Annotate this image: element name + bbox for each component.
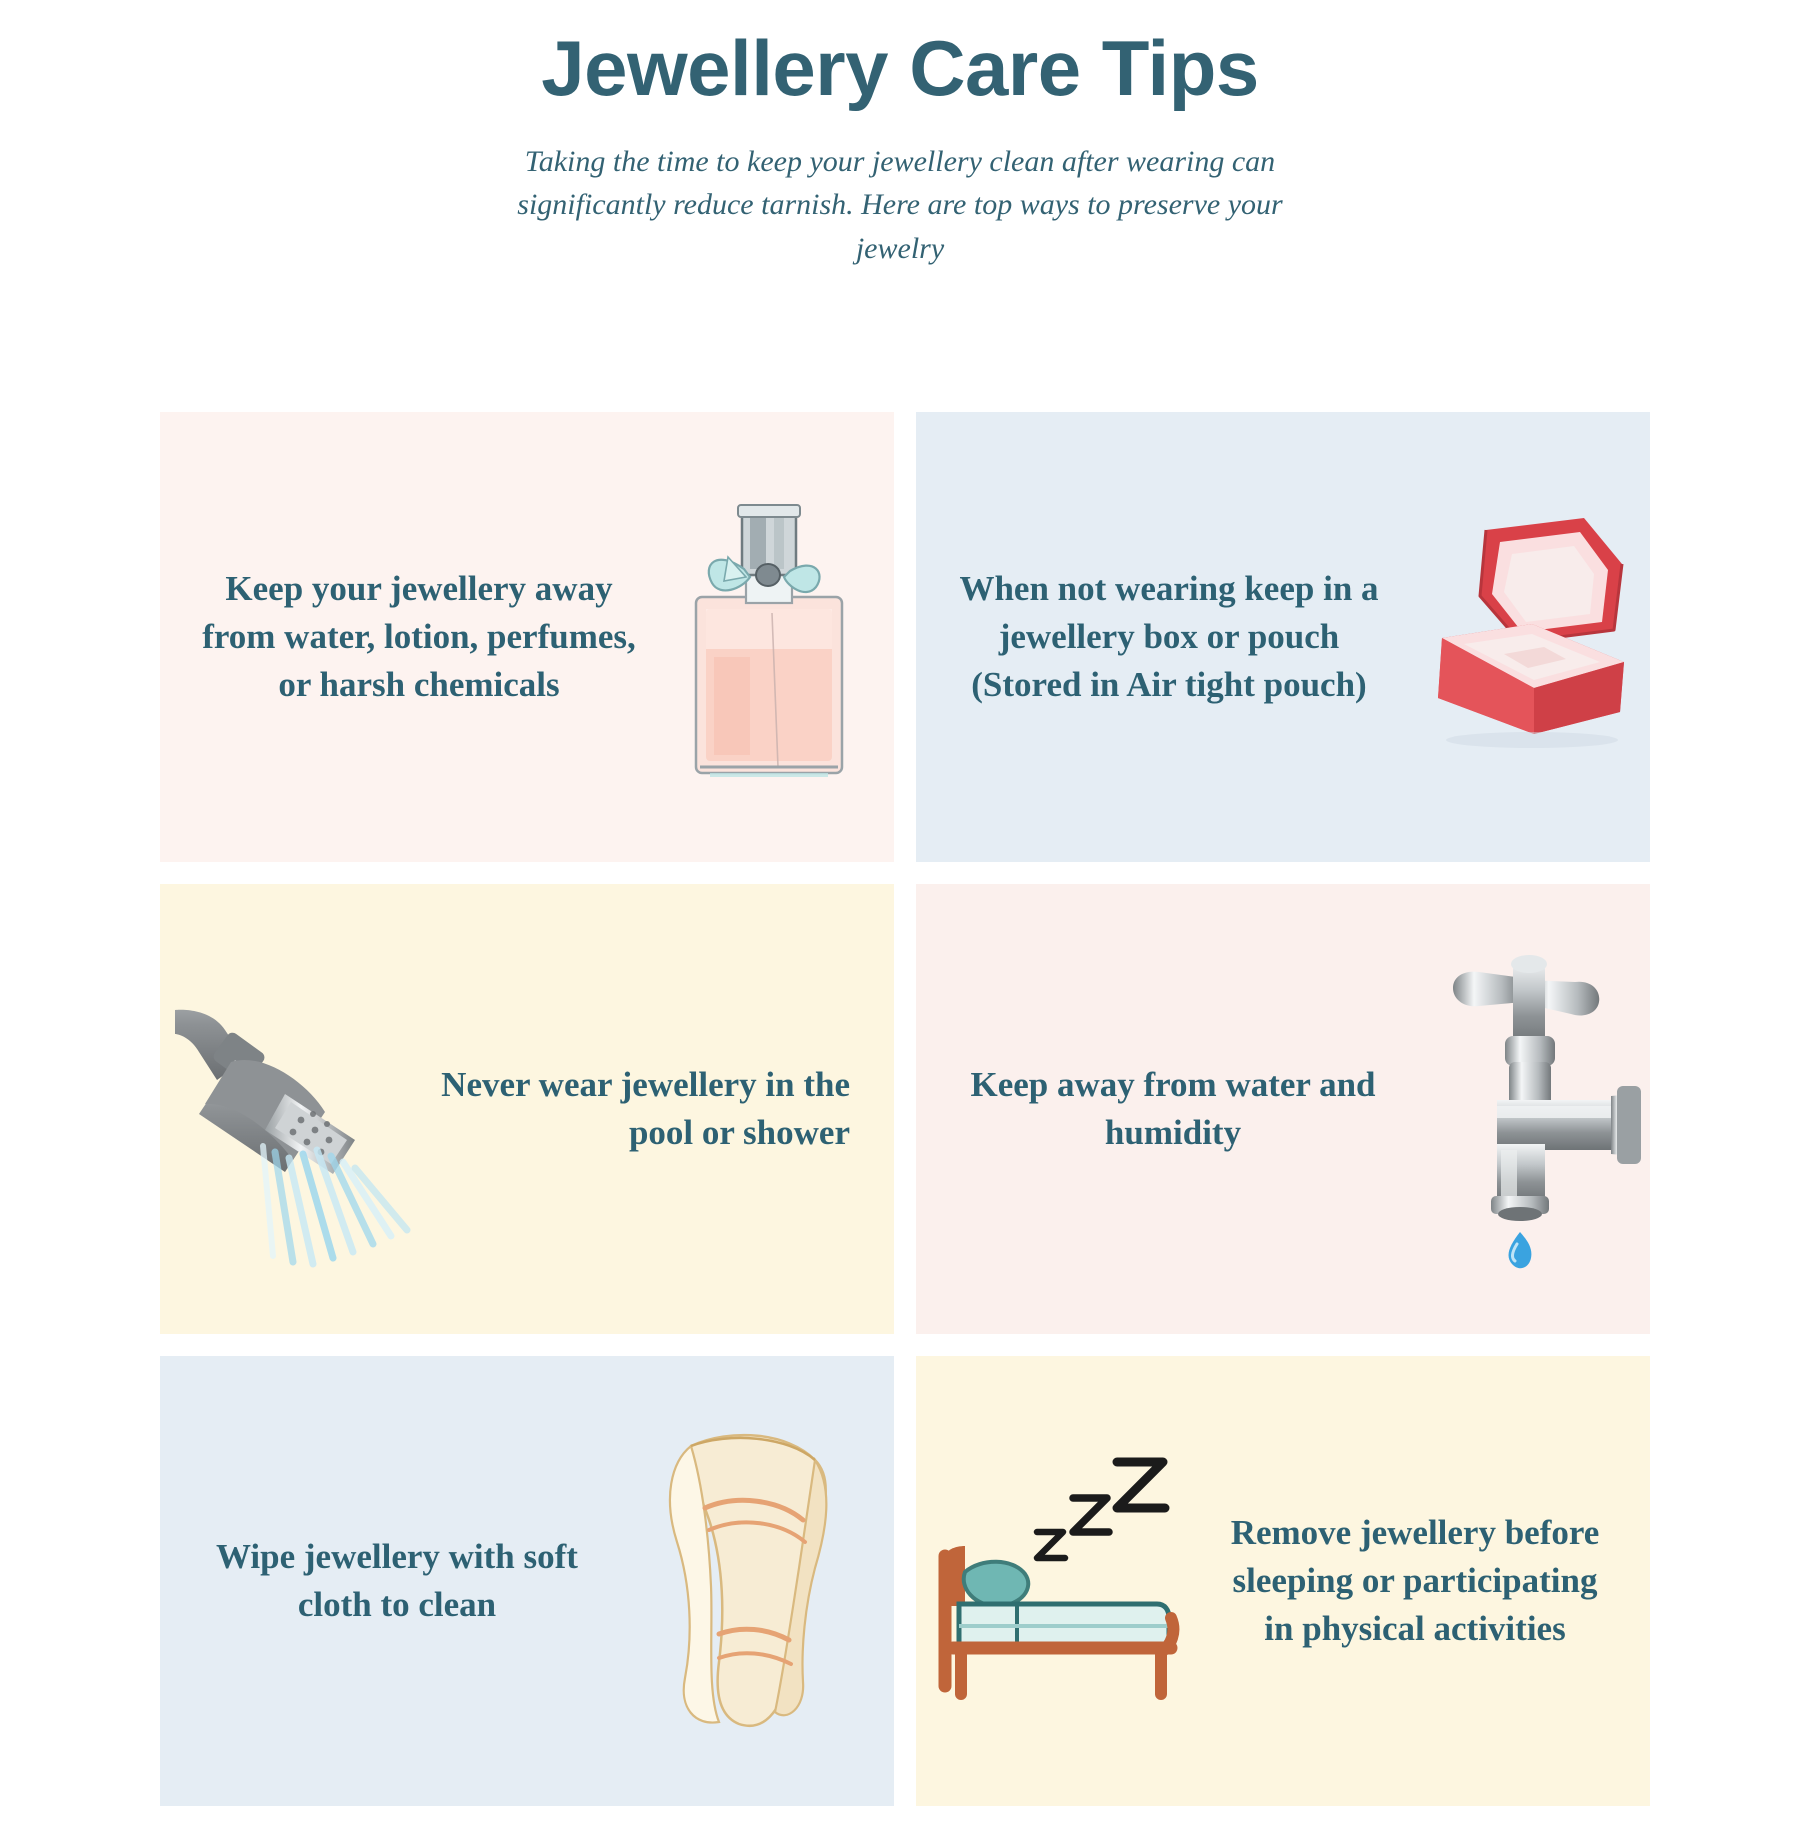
card-sleep-text: Remove jewellery before sleeping or part…	[1206, 1509, 1650, 1654]
grid-cell-1: Keep your jewellery away from water, lot…	[160, 412, 905, 884]
grid-cell-4: Keep away from water and humidity	[905, 884, 1650, 1356]
shower-head-icon	[160, 884, 430, 1334]
grid-cell-2: When not wearing keep in a jewellery box…	[905, 412, 1650, 884]
card-storage-text: When not wearing keep in a jewellery box…	[916, 565, 1400, 710]
card-wipe[interactable]: Wipe jewellery with soft cloth to clean	[160, 1356, 894, 1806]
card-humidity[interactable]: Keep away from water and humidity	[916, 884, 1650, 1334]
page-subtitle: Taking the time to keep your jewellery c…	[500, 140, 1300, 271]
card-shower-text: Never wear jewellery in the pool or show…	[430, 1061, 894, 1158]
card-wipe-text: Wipe jewellery with soft cloth to clean	[160, 1533, 604, 1630]
tips-grid: Keep your jewellery away from water, lot…	[160, 412, 1650, 1828]
card-chemicals-text: Keep your jewellery away from water, lot…	[160, 565, 644, 710]
infographic-page: Jewellery Care Tips Taking the time to k…	[0, 0, 1800, 1800]
page-title: Jewellery Care Tips	[0, 28, 1800, 110]
cloth-icon	[604, 1356, 894, 1806]
grid-cell-6: Remove jewellery before sleeping or part…	[905, 1356, 1650, 1828]
card-shower[interactable]: Never wear jewellery in the pool or show…	[160, 884, 894, 1334]
faucet-icon	[1400, 884, 1650, 1334]
grid-cell-5: Wipe jewellery with soft cloth to clean	[160, 1356, 905, 1828]
card-chemicals[interactable]: Keep your jewellery away from water, lot…	[160, 412, 894, 862]
card-sleep[interactable]: Remove jewellery before sleeping or part…	[916, 1356, 1650, 1806]
jewellery-box-icon	[1400, 412, 1650, 862]
bed-sleeping-icon	[916, 1356, 1206, 1806]
header: Jewellery Care Tips Taking the time to k…	[0, 0, 1800, 270]
card-storage[interactable]: When not wearing keep in a jewellery box…	[916, 412, 1650, 862]
grid-cell-3: Never wear jewellery in the pool or show…	[160, 884, 905, 1356]
perfume-bottle-icon	[644, 412, 894, 862]
card-humidity-text: Keep away from water and humidity	[916, 1061, 1400, 1158]
